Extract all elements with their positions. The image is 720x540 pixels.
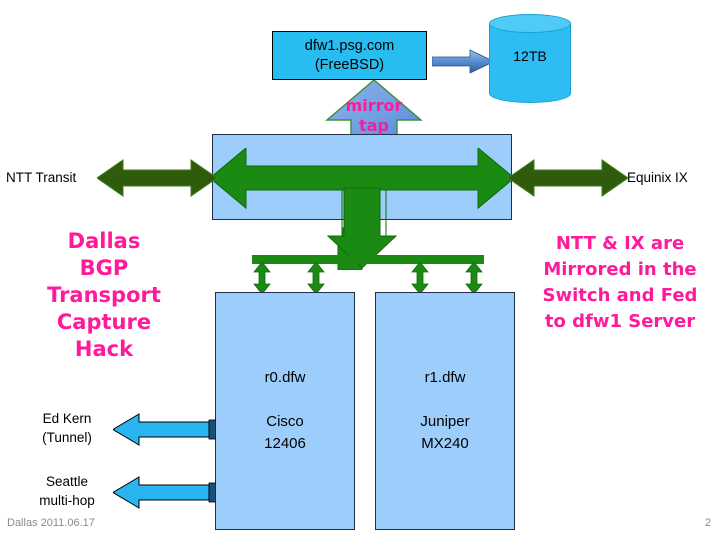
mirror-tap-line1: mirror (324, 96, 424, 116)
note-line: NTT & IX are (524, 231, 716, 257)
router-hostname: r0.dfw (265, 367, 306, 389)
note-line: Mirrored in the (524, 257, 716, 283)
router-vendor: Juniper (420, 411, 469, 433)
ed-kern-label: Ed Kern (Tunnel) (24, 409, 110, 447)
note-line: to dfw1 Server (524, 309, 716, 335)
peer-line: Seattle (24, 472, 110, 491)
storage-capacity-label: 12TB (489, 48, 571, 64)
title-line: Capture (14, 309, 194, 336)
peer-line: multi-hop (24, 491, 110, 510)
router-vendor: Cisco (266, 411, 304, 433)
ed-kern-tunnel-arrow-icon (113, 413, 216, 446)
slide-title-annotation: Dallas BGP Transport Capture Hack (14, 228, 194, 363)
equinix-ix-arrow-icon (508, 158, 628, 198)
server-os: (FreeBSD) (315, 56, 384, 75)
equinix-ix-label: Equinix IX (627, 170, 688, 185)
mirror-tap-label: mirror tap (324, 96, 424, 136)
peer-line: (Tunnel) (24, 428, 110, 447)
server-box-dfw1[interactable]: dfw1.psg.com (FreeBSD) (272, 31, 427, 80)
router-uplink-arrows-icon (250, 262, 486, 294)
peer-line: Ed Kern (24, 409, 110, 428)
switch-mirror-path-arrow-icon (210, 148, 514, 270)
router-model: MX240 (421, 433, 469, 455)
ntt-transit-arrow-icon (97, 158, 217, 198)
footer-location-date: Dallas 2011.06.17 (7, 517, 95, 529)
storage-cylinder[interactable]: 12TB (489, 14, 571, 102)
note-line: Switch and Fed (524, 283, 716, 309)
title-line: Dallas (14, 228, 194, 255)
router-box-r0[interactable]: r0.dfw Cisco 12406 (215, 292, 355, 530)
title-line: Transport (14, 282, 194, 309)
mirroring-note-annotation: NTT & IX are Mirrored in the Switch and … (524, 231, 716, 335)
ntt-transit-label: NTT Transit (6, 170, 76, 185)
server-to-storage-arrow-icon (432, 49, 494, 74)
mirror-tap-line2: tap (324, 116, 424, 136)
seattle-label: Seattle multi-hop (24, 472, 110, 510)
title-line: Hack (14, 336, 194, 363)
seattle-multihop-arrow-icon (113, 476, 216, 509)
slide-page-number: 2 (705, 517, 711, 529)
router-model: 12406 (264, 433, 306, 455)
title-line: BGP (14, 255, 194, 282)
server-hostname: dfw1.psg.com (305, 37, 394, 56)
router-box-r1[interactable]: r1.dfw Juniper MX240 (375, 292, 515, 530)
cylinder-top-ellipse (489, 14, 571, 33)
slide-canvas: dfw1.psg.com (FreeBSD) 12TB (0, 0, 720, 540)
router-hostname: r1.dfw (425, 367, 466, 389)
